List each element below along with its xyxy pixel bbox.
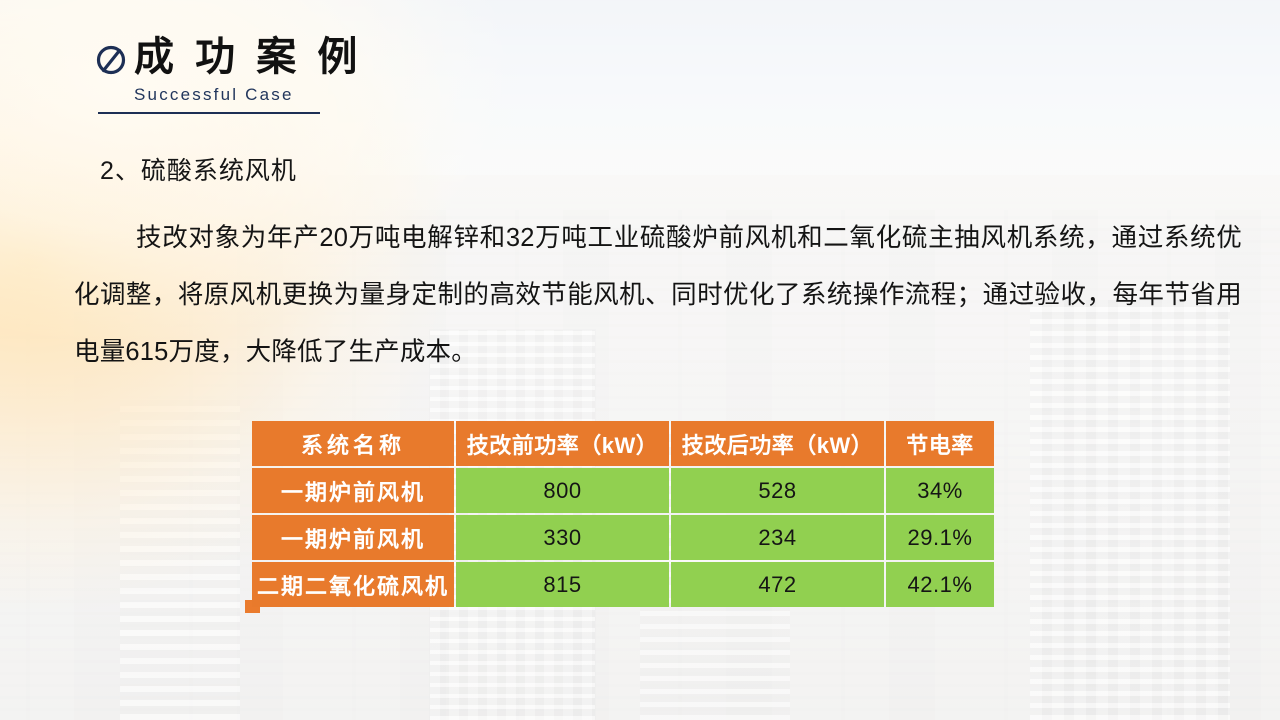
cell-power-before: 815: [456, 562, 669, 607]
page-subtitle: Successful Case: [134, 85, 362, 105]
table-body: 一期炉前风机 800 528 34% 一期炉前风机 330 234 29.1% …: [252, 468, 994, 607]
cell-system-name: 一期炉前风机: [252, 468, 454, 513]
column-header-power-before: 技改前功率（kW）: [456, 421, 669, 466]
page-title: 成 功 案 例: [134, 36, 362, 79]
cell-system-name: 二期二氧化硫风机: [252, 562, 454, 607]
cell-power-after: 528: [671, 468, 884, 513]
cell-system-name: 一期炉前风机: [252, 515, 454, 560]
slide-header: 成 功 案 例 Successful Case: [94, 36, 362, 114]
body-paragraph: 技改对象为年产20万吨电解锌和32万吨工业硫酸炉前风机和二氧化硫主抽风机系统，通…: [74, 210, 1242, 381]
cell-power-after: 234: [671, 515, 884, 560]
power-comparison-table: 系统名称 技改前功率（kW） 技改后功率（kW） 节电率 一期炉前风机 800 …: [250, 419, 996, 609]
column-header-power-after: 技改后功率（kW）: [671, 421, 884, 466]
slide-content: 成 功 案 例 Successful Case 2、硫酸系统风机 技改对象为年产…: [0, 0, 1280, 720]
section-heading: 2、硫酸系统风机: [100, 151, 297, 187]
title-row: 成 功 案 例: [94, 36, 362, 79]
cell-saving-rate: 42.1%: [886, 562, 994, 607]
cell-power-before: 800: [456, 468, 669, 513]
column-header-saving-rate: 节电率: [886, 421, 994, 466]
cell-power-before: 330: [456, 515, 669, 560]
column-header-system-name: 系统名称: [252, 421, 454, 466]
table-row: 一期炉前风机 800 528 34%: [252, 468, 994, 513]
table-head: 系统名称 技改前功率（kW） 技改后功率（kW） 节电率: [252, 421, 994, 466]
table-row: 二期二氧化硫风机 815 472 42.1%: [252, 562, 994, 607]
slide-canvas: 成 功 案 例 Successful Case 2、硫酸系统风机 技改对象为年产…: [0, 0, 1280, 720]
cell-power-after: 472: [671, 562, 884, 607]
cell-saving-rate: 29.1%: [886, 515, 994, 560]
table-header-row: 系统名称 技改前功率（kW） 技改后功率（kW） 节电率: [252, 421, 994, 466]
cell-saving-rate: 34%: [886, 468, 994, 513]
data-table-wrapper: 系统名称 技改前功率（kW） 技改后功率（kW） 节电率 一期炉前风机 800 …: [250, 419, 974, 609]
table-row: 一期炉前风机 330 234 29.1%: [252, 515, 994, 560]
subtitle-divider: [98, 112, 320, 114]
slashed-circle-icon: [94, 43, 128, 77]
